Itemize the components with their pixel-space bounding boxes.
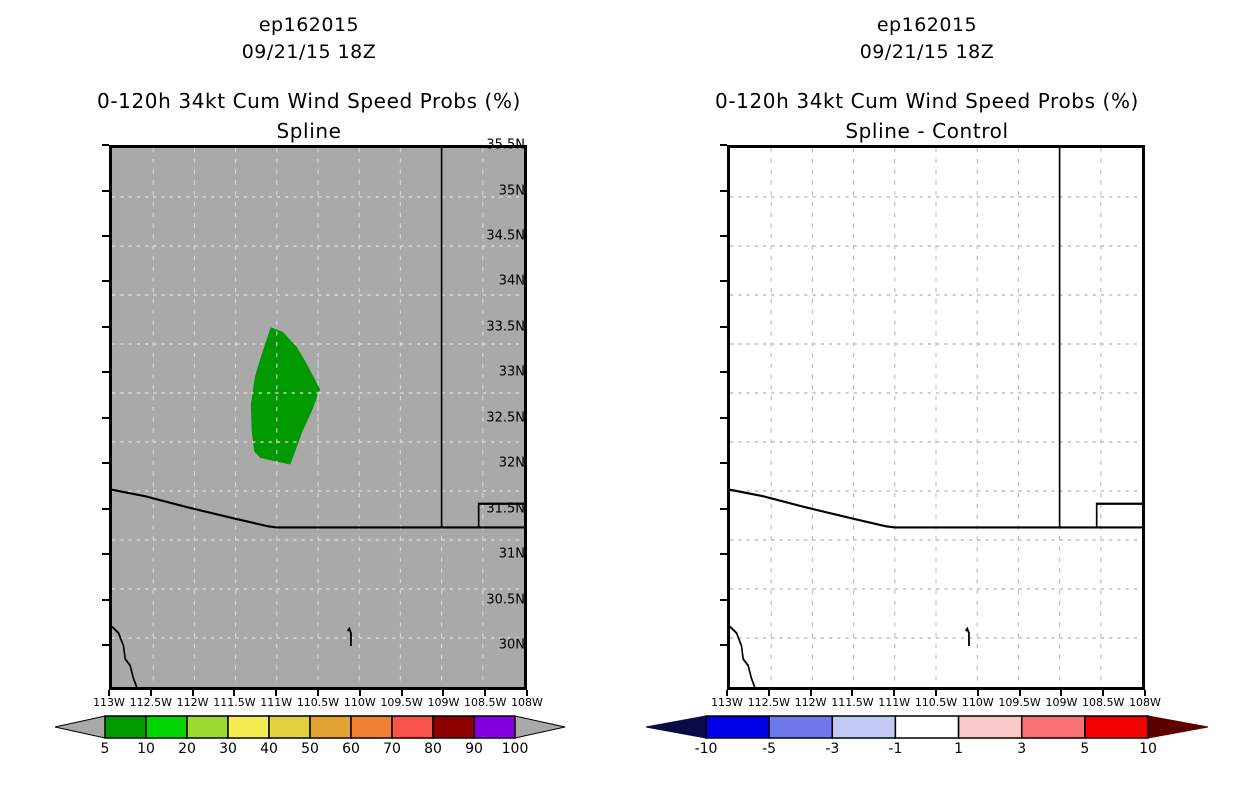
- ytick-label-33n-right: 33N: [499, 365, 525, 380]
- chart-subtitle-left: Spline: [0, 119, 618, 143]
- ytick-mark-32n-right: [720, 462, 727, 464]
- colorbar-tick-60: 60: [342, 741, 360, 757]
- datetime-right: 09/21/15 18Z: [618, 41, 1236, 63]
- xtick-label-112w: 112W: [177, 696, 209, 709]
- ytick-mark-31n-right: [720, 553, 727, 555]
- colorbar-difference: -10 -5 -3 -1 1 3 5 10: [618, 714, 1236, 774]
- xtick-label-1085w-right: 108.5W: [1082, 696, 1124, 709]
- xtick-label-1105w: 110.5W: [297, 696, 339, 709]
- plot-frame-left: [109, 145, 527, 690]
- ytick-mark-345n-right: [720, 235, 727, 237]
- texas-notch-border: [1097, 504, 1142, 528]
- ytick-label-325n-right: 32.5N: [486, 410, 525, 425]
- ytick-label-30n-right: 30N: [499, 638, 525, 653]
- gridlines-right: [730, 148, 1142, 687]
- xtick-label-111w-right: 111W: [878, 696, 910, 709]
- gulf-coast-line: [112, 627, 137, 687]
- plot-area-right: 30N 30.5N 31N 31.5N 32N 32.5N 33N 33.5N …: [727, 145, 1145, 690]
- colorbar-tick-pos3: 3: [1017, 741, 1026, 757]
- ytick-label-32n-right: 32N: [499, 456, 525, 471]
- xtick-label-110w: 110W: [344, 696, 376, 709]
- xtick-label-1125w: 112.5W: [130, 696, 172, 709]
- colorbar-tick-50: 50: [301, 741, 319, 757]
- map-canvas-left: [112, 148, 524, 687]
- colorbar-tick-neg5: -5: [762, 741, 776, 757]
- ytick-label-355n-right: 35.5N: [486, 138, 525, 153]
- ytick-mark-35n-right: [720, 190, 727, 192]
- ytick-mark-355n: [102, 144, 109, 146]
- ytick-mark-34n: [102, 280, 109, 282]
- xtick-label-110w-right: 110W: [962, 696, 994, 709]
- colorbar-under-arrow: [55, 716, 105, 738]
- colorbar-band-group-diff: [706, 716, 1148, 738]
- ytick-mark-33n: [102, 371, 109, 373]
- storm-id-right: ep162015: [618, 14, 1236, 36]
- ytick-mark-33n-right: [720, 371, 727, 373]
- xtick-label-1115w-right: 111.5W: [831, 696, 873, 709]
- colorbar-tick-pos5: 5: [1080, 741, 1089, 757]
- ytick-mark-30n: [102, 644, 109, 646]
- chart-subtitle-right: Spline - Control: [618, 119, 1236, 143]
- xtick-label-1115w: 111.5W: [213, 696, 255, 709]
- ytick-mark-35n: [102, 190, 109, 192]
- ytick-label-305n-right: 30.5N: [486, 592, 525, 607]
- xtick-label-108w: 108W: [511, 696, 543, 709]
- colorbar-tick-pos1: 1: [954, 741, 963, 757]
- colorbar-tick-40: 40: [260, 741, 278, 757]
- xtick-label-1085w: 108.5W: [464, 696, 506, 709]
- small-island: [348, 629, 351, 646]
- colorbar-tick-5: 5: [101, 741, 110, 757]
- ytick-mark-335n: [102, 326, 109, 328]
- ytick-mark-32n: [102, 462, 109, 464]
- ytick-mark-325n: [102, 417, 109, 419]
- colorbar-tick-100: 100: [502, 741, 529, 757]
- xtick-label-109w: 109W: [427, 696, 459, 709]
- colorbar-tick-neg10: -10: [695, 741, 718, 757]
- xtick-label-109w-right: 109W: [1045, 696, 1077, 709]
- small-island: [966, 629, 969, 646]
- ytick-label-315n-right: 31.5N: [486, 501, 525, 516]
- probability-contour-5pct: [251, 328, 319, 464]
- gulf-coast-line: [730, 627, 755, 687]
- plot-frame-right: [727, 145, 1145, 690]
- ytick-mark-345n: [102, 235, 109, 237]
- colorbar-tick-neg3: -3: [825, 741, 839, 757]
- ytick-mark-325n-right: [720, 417, 727, 419]
- colorbar-tick-70: 70: [383, 741, 401, 757]
- xtick-label-113w: 113W: [93, 696, 125, 709]
- xtick-label-1095w-right: 109.5W: [998, 696, 1040, 709]
- colorbar-difference-bands: [618, 714, 1236, 740]
- xtick-label-1095w: 109.5W: [380, 696, 422, 709]
- xtick-label-1105w-right: 110.5W: [915, 696, 957, 709]
- ytick-mark-355n-right: [720, 144, 727, 146]
- xtick-label-108w-right: 108W: [1129, 696, 1161, 709]
- ytick-label-31n-right: 31N: [499, 547, 525, 562]
- xtick-label-111w: 111W: [260, 696, 292, 709]
- colorbar-tick-90: 90: [465, 741, 483, 757]
- ytick-label-34n-right: 34N: [499, 274, 525, 289]
- datetime-left: 09/21/15 18Z: [0, 41, 618, 63]
- colorbar-band-group: [105, 716, 515, 738]
- ytick-mark-315n: [102, 508, 109, 510]
- chart-title-right: 0-120h 34kt Cum Wind Speed Probs (%): [618, 89, 1236, 113]
- chart-title-left: 0-120h 34kt Cum Wind Speed Probs (%): [0, 89, 618, 113]
- ytick-mark-305n: [102, 599, 109, 601]
- ytick-label-335n-right: 33.5N: [486, 319, 525, 334]
- colorbar-tick-pos10: 10: [1139, 741, 1157, 757]
- plot-area-left: 30N 30.5N 31N 31.5N 32N 32.5N 33N 33.5N …: [109, 145, 527, 690]
- colorbar-over-arrow-diff: [1148, 716, 1208, 738]
- map-canvas-right: [730, 148, 1142, 687]
- ytick-mark-315n-right: [720, 508, 727, 510]
- colorbar-tick-30: 30: [219, 741, 237, 757]
- colorbar-tick-20: 20: [178, 741, 196, 757]
- xtick-label-113w-right: 113W: [711, 696, 743, 709]
- storm-id-left: ep162015: [0, 14, 618, 36]
- colorbar-probability: 5 10 20 30 40 50 60 70 80 90 100: [0, 714, 618, 774]
- panel-spline-minus-control: ep162015 09/21/15 18Z 0-120h 34kt Cum Wi…: [618, 0, 1236, 800]
- ytick-label-345n-right: 34.5N: [486, 228, 525, 243]
- colorbar-tick-neg1: -1: [888, 741, 902, 757]
- ytick-mark-34n-right: [720, 280, 727, 282]
- ytick-mark-31n: [102, 553, 109, 555]
- xtick-label-112w-right: 112W: [795, 696, 827, 709]
- colorbar-probability-bands: [0, 714, 618, 740]
- ytick-mark-335n-right: [720, 326, 727, 328]
- panel-spline: ep162015 09/21/15 18Z 0-120h 34kt Cum Wi…: [0, 0, 618, 800]
- colorbar-under-arrow-diff: [646, 716, 706, 738]
- colorbar-tick-10: 10: [137, 741, 155, 757]
- xtick-label-1125w-right: 112.5W: [748, 696, 790, 709]
- ytick-mark-305n-right: [720, 599, 727, 601]
- ytick-mark-30n-right: [720, 644, 727, 646]
- ytick-label-35n-right: 35N: [499, 183, 525, 198]
- colorbar-over-arrow: [515, 716, 565, 738]
- colorbar-tick-80: 80: [424, 741, 442, 757]
